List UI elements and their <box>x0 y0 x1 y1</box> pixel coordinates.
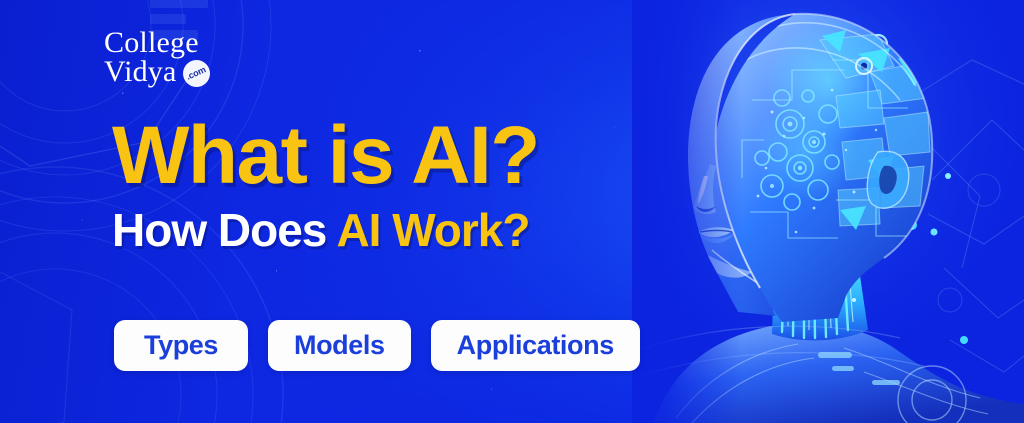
logo-dotcom-text: .com <box>185 66 207 82</box>
headline-secondary-accent: AI Work? <box>336 204 529 256</box>
pill-button-models[interactable]: Models <box>268 320 411 371</box>
ai-robot-artwork <box>632 0 1024 423</box>
ai-hero-banner: College Vidya .com What is AI? How Does … <box>0 0 1024 423</box>
logo-line-college: College <box>104 28 234 57</box>
headline-block: What is AI? How Does AI Work? <box>112 118 652 253</box>
pill-button-types[interactable]: Types <box>114 320 248 371</box>
headline-secondary: How Does AI Work? <box>112 207 652 253</box>
logo-dotcom-badge: .com <box>183 60 210 87</box>
topic-pill-row: Types Models Applications <box>114 320 640 371</box>
headline-primary: What is AI? <box>112 118 652 193</box>
pill-button-applications[interactable]: Applications <box>431 320 640 371</box>
college-vidya-logo[interactable]: College Vidya .com <box>104 28 234 87</box>
headline-secondary-plain: How Does <box>112 204 336 256</box>
logo-line-vidya: Vidya .com <box>104 57 234 86</box>
logo-vidya-text: Vidya <box>104 55 177 88</box>
